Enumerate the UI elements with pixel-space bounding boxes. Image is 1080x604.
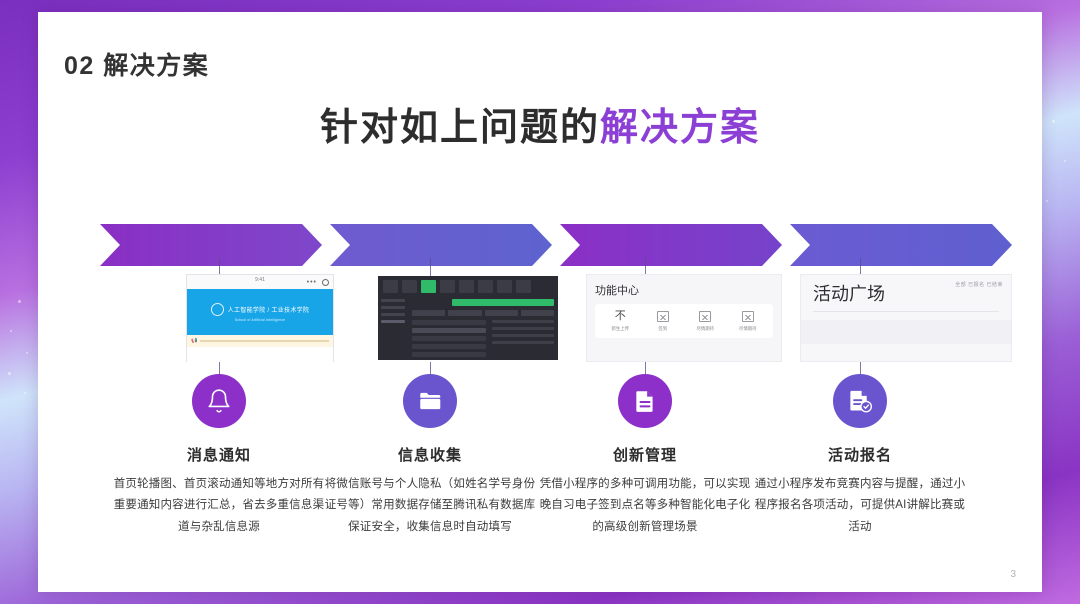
chevron-step-1 <box>100 224 322 266</box>
console-button[interactable] <box>521 310 554 316</box>
school-name-en: School of Artificial Intelligence <box>235 318 285 322</box>
toolbar-item[interactable] <box>383 280 398 293</box>
bell-icon-circle[interactable] <box>192 374 246 428</box>
column-body-2: 将微信账号与个人隐私（如姓名学号身份证号等）常用数据存储至腾讯私有数据库保证安全… <box>324 474 536 538</box>
page-title: 针对如上问题的解决方案 <box>38 96 1042 151</box>
folder-icon <box>417 388 443 414</box>
function-item[interactable]: 签到 <box>643 311 683 332</box>
image-placeholder-icon <box>657 311 669 322</box>
image-placeholder-icon <box>699 311 711 322</box>
preview-card-admin-console[interactable] <box>378 276 558 360</box>
toolbar-item[interactable] <box>459 280 474 293</box>
notice-text-placeholder <box>200 340 329 342</box>
console-toolbar <box>378 276 558 296</box>
console-body <box>378 296 558 358</box>
toolbar-item[interactable] <box>497 280 512 293</box>
console-columns <box>412 320 554 357</box>
school-banner: 人工智能学院 / 工业技术学院 School of Artificial Int… <box>187 289 333 335</box>
function-item[interactable]: 尽情期待 <box>685 311 725 332</box>
column-heading-3: 创新管理 <box>540 444 750 465</box>
detail-row <box>492 334 554 337</box>
toolbar-item[interactable] <box>516 280 531 293</box>
column-body-1: 首页轮播图、首页滚动通知等地方对所有重要通知内容进行汇总，省去多重信息渠道与杂乱… <box>113 474 325 538</box>
sidebar-row[interactable] <box>381 299 405 302</box>
console-list <box>412 320 486 357</box>
preview-card-function-center[interactable]: 功能中心 不 新生上传 签到 尽情期待 尽情期待 <box>586 274 782 362</box>
folder-icon-circle[interactable] <box>403 374 457 428</box>
status-time: 9:41 <box>255 277 265 283</box>
close-icon[interactable] <box>322 279 329 286</box>
process-chevron-band <box>100 224 980 266</box>
console-sidebar <box>378 296 408 358</box>
console-progress-bar <box>452 299 554 306</box>
megaphone-icon: 📢 <box>191 338 197 344</box>
console-list-item[interactable] <box>412 320 486 325</box>
console-button-row <box>412 310 554 316</box>
column-heading-1: 消息通知 <box>114 444 324 465</box>
bell-icon <box>206 388 232 414</box>
page-title-highlight: 解决方案 <box>600 107 760 149</box>
page-title-plain: 针对如上问题的 <box>320 107 600 149</box>
console-button[interactable] <box>448 310 481 316</box>
preview-card-activity-plaza[interactable]: 全部 已报名 已结束 活动广场 <box>800 274 1012 362</box>
slide-canvas: 02 解决方案 针对如上问题的解决方案 9:41 ••• <box>38 12 1042 592</box>
toolbar-item[interactable] <box>478 280 493 293</box>
console-list-item[interactable] <box>412 352 486 357</box>
chevron-step-3 <box>560 224 782 266</box>
function-center-grid: 不 新生上传 签到 尽情期待 尽情期待 <box>595 304 773 338</box>
console-detail-panel <box>492 320 554 357</box>
miniprogram-statusbar: 9:41 ••• <box>187 275 333 289</box>
sidebar-row-selected[interactable] <box>381 320 405 323</box>
chevron-step-4 <box>790 224 1012 266</box>
column-body-4: 通过小程序发布竞赛内容与提醒，通过小程序报名各项活动，可提供AI讲解比赛或活动 <box>754 474 966 538</box>
page-number: 3 <box>1010 569 1016 580</box>
document-check-icon <box>847 388 874 415</box>
console-main <box>408 296 558 358</box>
activity-plaza-header: 全部 已报名 已结束 活动广场 <box>801 275 1011 301</box>
chevron-step-2 <box>330 224 552 266</box>
scrolling-notice-bar[interactable]: 📢 <box>187 335 333 347</box>
school-logo: 人工智能学院 / 工业技术学院 <box>211 303 310 316</box>
function-center-title: 功能中心 <box>595 282 773 298</box>
toolbar-item[interactable] <box>440 280 455 293</box>
function-item[interactable]: 尽情期待 <box>728 311 768 332</box>
document-icon <box>632 388 658 414</box>
detail-row <box>492 327 554 330</box>
console-button[interactable] <box>412 310 445 316</box>
text-icon: 不 <box>615 311 626 322</box>
function-item-label: 尽情期待 <box>739 326 757 332</box>
sidebar-row[interactable] <box>381 306 405 309</box>
preview-card-wechat-home[interactable]: 9:41 ••• 人工智能学院 / 工业技术学院 School of Artif… <box>186 274 334 362</box>
school-seal-icon <box>211 303 224 316</box>
column-body-3: 凭借小程序的多种可调用功能，可以实现晚自习电子签到点名等多种智能化电子化的高级创… <box>539 474 751 538</box>
card-body-blank <box>187 347 333 362</box>
slide-background: 02 解决方案 针对如上问题的解决方案 9:41 ••• <box>0 0 1080 604</box>
console-list-item-selected[interactable] <box>412 328 486 333</box>
more-icon[interactable]: ••• <box>307 279 317 286</box>
activity-plaza-title: 活动广场 <box>801 275 1011 303</box>
document-icon-circle[interactable] <box>618 374 672 428</box>
detail-row <box>492 341 554 344</box>
sidebar-row[interactable] <box>381 313 405 316</box>
toolbar-item-active[interactable] <box>421 280 436 293</box>
function-item-label: 新生上传 <box>611 326 629 332</box>
connector-line-2-top <box>430 258 431 276</box>
console-button[interactable] <box>485 310 518 316</box>
activity-plaza-body <box>801 320 1011 344</box>
divider <box>813 311 999 312</box>
document-check-icon-circle[interactable] <box>833 374 887 428</box>
column-heading-4: 活动报名 <box>755 444 965 465</box>
image-placeholder-icon <box>742 311 754 322</box>
function-item[interactable]: 不 新生上传 <box>600 311 640 332</box>
activity-plaza-tabs[interactable]: 全部 已报名 已结束 <box>955 281 1003 288</box>
detail-row <box>492 320 554 323</box>
school-name: 人工智能学院 / 工业技术学院 <box>228 305 310 314</box>
function-item-label: 签到 <box>658 326 667 332</box>
console-list-item[interactable] <box>412 336 486 341</box>
toolbar-item[interactable] <box>402 280 417 293</box>
section-kicker: 02 解决方案 <box>64 46 209 82</box>
function-item-label: 尽情期待 <box>696 326 714 332</box>
console-list-item[interactable] <box>412 344 486 349</box>
column-heading-2: 信息收集 <box>325 444 535 465</box>
